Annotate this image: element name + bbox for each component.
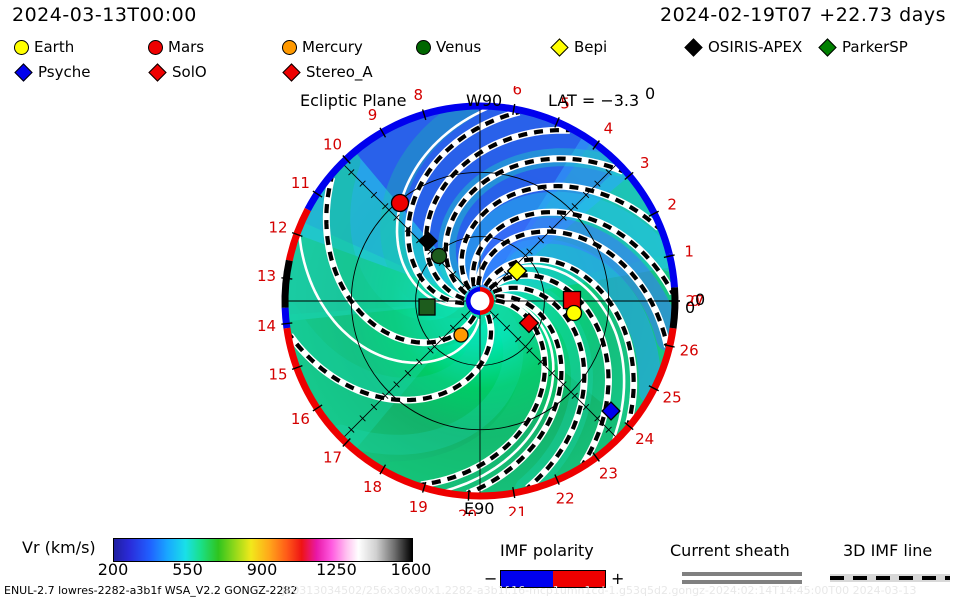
legend-marker-circle-icon: [282, 40, 297, 55]
header-timestamp-left: 2024-03-13T00:00: [12, 4, 197, 26]
legend-marker-diamond-icon: [550, 38, 568, 56]
carrington-tick-label: 6: [513, 86, 523, 98]
carrington-tick-label: 19: [409, 498, 428, 516]
legend-marker-circle-icon: [148, 40, 163, 55]
carrington-tick-label: 2: [667, 196, 677, 214]
carrington-tick-label: 11: [291, 174, 310, 192]
colorbar-tick-label: 200: [98, 560, 129, 579]
carrington-tick-label: 12: [268, 219, 287, 237]
colorbar-title: Vr (km/s): [22, 538, 96, 557]
carrington-tick-label: 25: [663, 389, 682, 407]
legend-item-osiris-apex: OSIRIS-APEX: [684, 40, 802, 55]
legend-marker-diamond-icon: [818, 38, 836, 56]
legend-item-parkersp: ParkerSP: [818, 40, 908, 55]
plot-canvas: 0123456891011121314151617181920212223242…: [0, 86, 960, 516]
carrington-tick-label: 1: [684, 242, 694, 260]
carrington-tick-label: 3: [640, 154, 650, 172]
carrington-tick-label: 16: [291, 410, 310, 428]
carrington-tick-label: 8: [414, 86, 424, 104]
legend-item-venus: Venus: [416, 40, 481, 55]
legend-marker-circle-icon: [416, 40, 431, 55]
carrington-tick-label: 14: [257, 317, 276, 335]
legend-label: Venus: [436, 40, 481, 55]
legend-item-mars: Mars: [148, 40, 204, 55]
imf-line-title: 3D IMF line: [843, 541, 932, 560]
body-marker-earth: [567, 306, 582, 321]
legend-item-bepi: Bepi: [550, 40, 607, 55]
east-limb-label: E90: [464, 499, 494, 516]
legend-label: Stereo_A: [306, 65, 373, 80]
carrington-tick-label: 17: [323, 448, 342, 466]
legend-item-stereo_a: Stereo_A: [282, 65, 373, 80]
screenshot-root: 2024-03-13T00:00 2024-02-19T07 +22.73 da…: [0, 0, 960, 600]
legend-item-solo: SolO: [148, 65, 207, 80]
plot-title: Ecliptic Plane: [300, 91, 406, 110]
legend-label: ParkerSP: [842, 40, 908, 55]
latitude-label: LAT = −3.3: [548, 91, 639, 110]
colorbar-tick-label: 900: [247, 560, 278, 579]
body-marker-mercury: [454, 328, 468, 342]
legend-marker-circle-icon: [14, 40, 29, 55]
legend-label: Psyche: [38, 65, 90, 80]
legend-marker-diamond-icon: [282, 63, 300, 81]
colorbar-tick-label: 550: [172, 560, 203, 579]
colorbar-tick-label: 1250: [316, 560, 357, 579]
carrington-tick-label: 24: [635, 430, 654, 448]
ecliptic-plane-plot: 0123456891011121314151617181920212223242…: [0, 86, 960, 516]
carrington-tick-label: 23: [599, 465, 618, 483]
west-limb-label: W90: [466, 91, 502, 110]
carrington-tick-label: 18: [363, 478, 382, 496]
polarity-arc: [285, 308, 287, 328]
carrington-tick-label: 13: [257, 267, 276, 285]
imf-polarity-title: IMF polarity: [500, 541, 594, 560]
legend-item-earth: Earth: [14, 40, 74, 55]
legend-marker-diamond-icon: [148, 63, 166, 81]
colorbar-gradient: [114, 539, 412, 561]
legend-label: OSIRIS-APEX: [708, 40, 802, 55]
carrington-tick-label: 4: [604, 120, 614, 138]
legend-label: Mercury: [302, 40, 363, 55]
latitude-degree-symbol: 0: [645, 86, 655, 103]
carrington-tick-label: 15: [268, 366, 287, 384]
zero-longitude-label: 0: [685, 298, 695, 317]
legend-label: SolO: [172, 65, 207, 80]
carrington-tick-label: 22: [556, 489, 575, 507]
footer-run-id: ENUL-2.7 lowres-2282-a3b1f WSA_V2.2 GONG…: [4, 584, 298, 597]
header-timestamp-right: 2024-02-19T07 +22.73 days: [660, 4, 946, 26]
legend-item-mercury: Mercury: [282, 40, 363, 55]
carrington-tick-label: 26: [680, 342, 699, 360]
legend-marker-diamond-icon: [684, 38, 702, 56]
legend-label: Earth: [34, 40, 74, 55]
colorbar-tick-label: 1600: [391, 560, 432, 579]
legend-label: Mars: [168, 40, 204, 55]
legend-marker-diamond-icon: [14, 63, 32, 81]
legend-item-psyche: Psyche: [14, 65, 90, 80]
carrington-tick-label: 21: [508, 504, 527, 516]
footer-faint-metadata: JE0313034502/256x30x90x1.2282-a3b1f.16-m…: [282, 584, 917, 597]
colorbar: [113, 538, 413, 562]
zero-degree-symbol: 0: [695, 290, 705, 309]
legend-label: Bepi: [574, 40, 607, 55]
current-sheath-title: Current sheath: [670, 541, 790, 560]
body-marker-venus: [432, 249, 447, 264]
body-marker-parkersp: [419, 299, 435, 315]
polarity-arc: [673, 287, 675, 328]
sun-marker: [466, 287, 494, 315]
carrington-tick-label: 10: [323, 136, 342, 154]
body-marker-mars: [392, 195, 409, 212]
